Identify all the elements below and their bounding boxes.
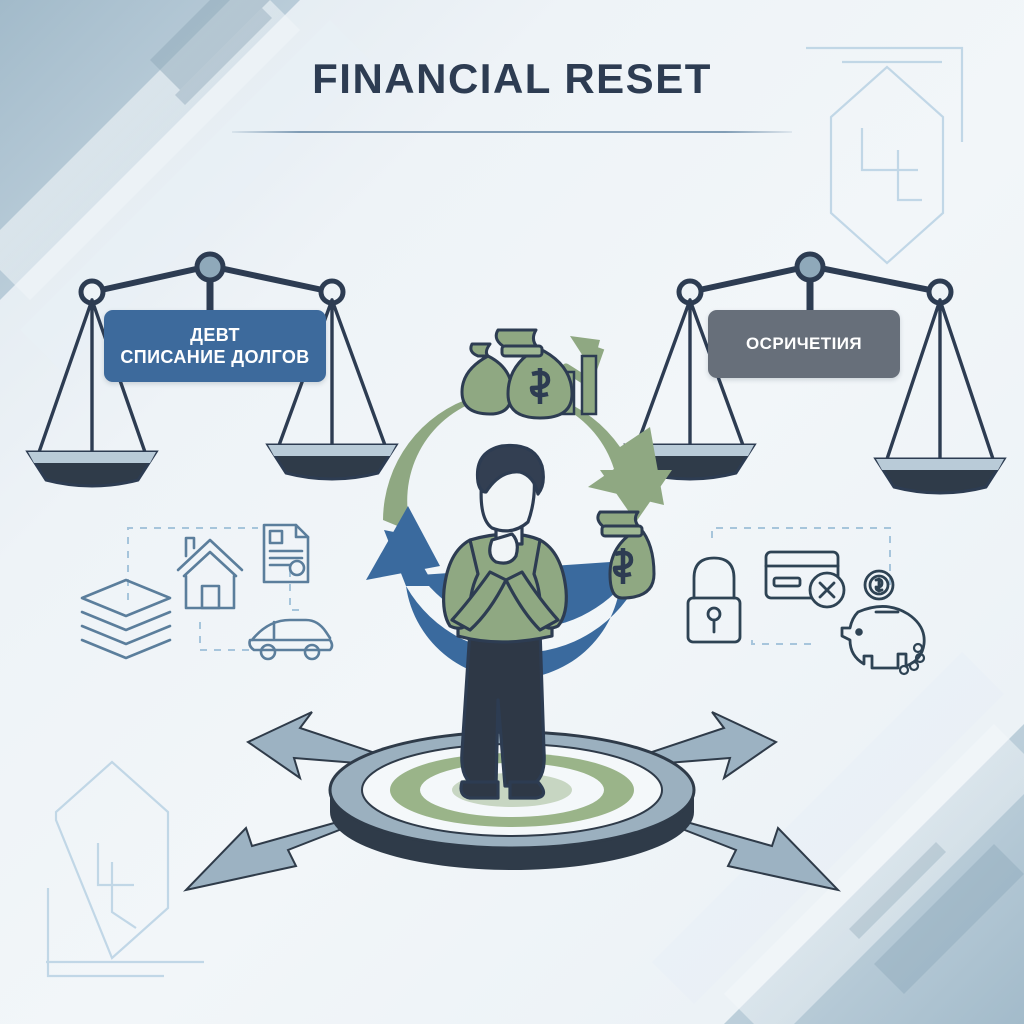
- infographic-poster: FINANCIAL RESET: [0, 0, 1024, 1024]
- person-figure: [0, 0, 1024, 1024]
